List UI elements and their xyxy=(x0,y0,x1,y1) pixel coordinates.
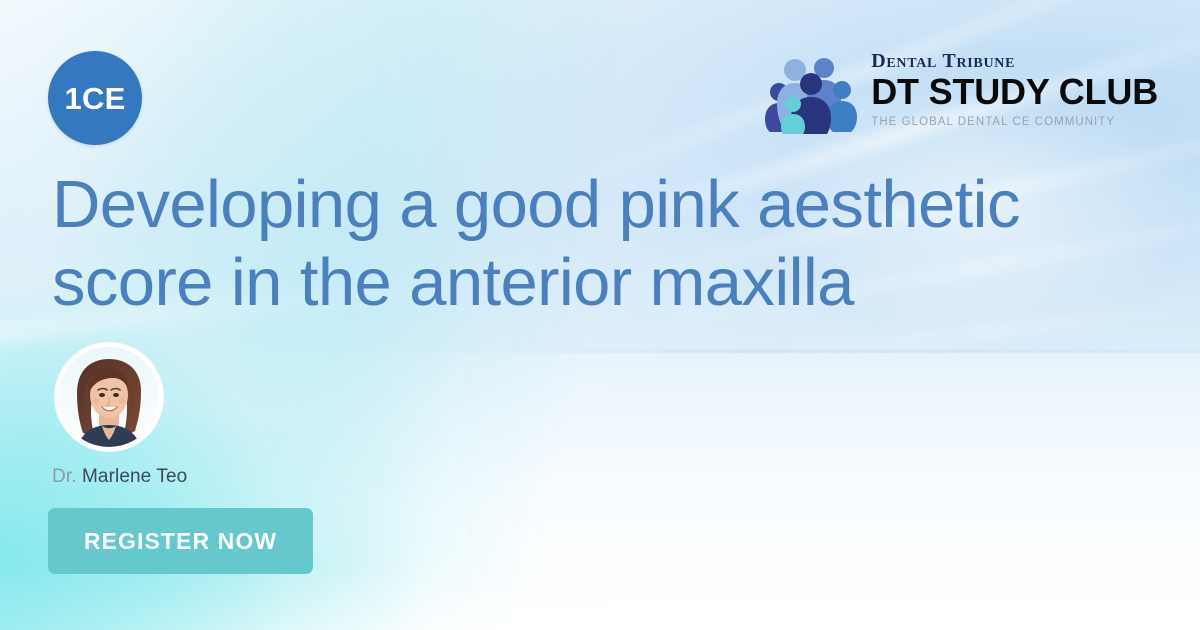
presenter-honorific: Dr. xyxy=(52,466,77,487)
background-horizon-line xyxy=(540,350,1200,352)
logo-brand-name: Dental Tribune xyxy=(871,51,1158,72)
webinar-promo-banner: 1CE xyxy=(0,0,1200,630)
presenter-full-name: Marlene Teo xyxy=(82,466,187,487)
webinar-title: Developing a good pink aesthetic score i… xyxy=(52,166,1162,321)
logo-tagline: THE GLOBAL DENTAL CE COMMUNITY xyxy=(871,113,1158,131)
presenter-name: Dr. Marlene Teo xyxy=(52,466,187,488)
logo-product-name: DT STUDY CLUB xyxy=(871,73,1158,110)
register-now-button[interactable]: REGISTER NOW xyxy=(48,508,313,574)
ce-credits-label: 1CE xyxy=(65,83,126,114)
ce-credits-badge: 1CE xyxy=(48,51,142,145)
presenter-portrait-photo xyxy=(59,347,159,447)
presenter-avatar xyxy=(55,343,163,451)
webinar-title-line-2: score in the anterior maxilla xyxy=(52,244,1162,322)
background-bottom-fade xyxy=(0,566,1200,630)
dt-study-club-logo: Dental Tribune DT STUDY CLUB THE GLOBAL … xyxy=(762,48,1158,134)
webinar-title-line-1: Developing a good pink aesthetic xyxy=(52,166,1162,244)
group-of-people-icon xyxy=(762,48,858,134)
logo-wordmark: Dental Tribune DT STUDY CLUB THE GLOBAL … xyxy=(871,51,1158,131)
